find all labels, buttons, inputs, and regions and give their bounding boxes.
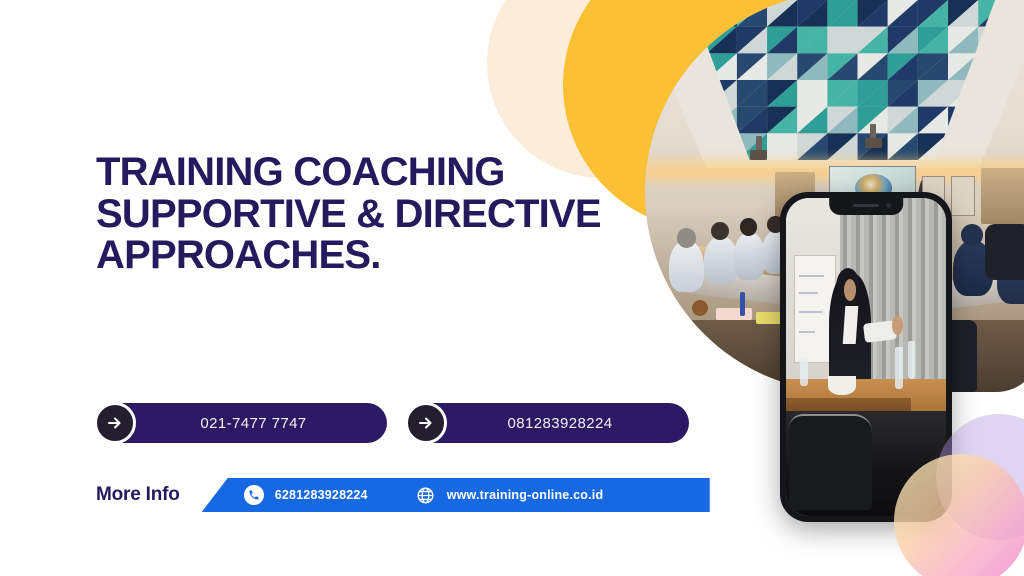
participant-2-head [711,222,729,240]
contact-website[interactable]: www.training-online.co.id [416,485,604,505]
participant-2 [704,236,738,284]
participant-3 [734,232,766,280]
phone-photo-bowl [828,376,857,395]
contact-phone[interactable]: 6281283928224 [244,485,368,505]
phone-photo-trainer-shirt [842,306,857,344]
more-info-row: More Info 6281283928224 [96,478,710,512]
phone-pill-office[interactable]: 021-7477 7747 [100,403,387,443]
desk-pen [740,292,746,316]
phone-pill-mobile-label: 081283928224 [457,415,663,432]
phone-pill-group: 021-7477 7747 081283928224 [100,403,689,443]
more-info-label: More Info [96,484,180,506]
contact-website-text: www.training-online.co.id [447,488,604,502]
globe-icon [416,485,436,505]
arrow-right-icon [94,402,136,444]
phone-photo-trainer-hand [892,316,903,335]
poster-canvas: TRAINING COACHING SUPPORTIVE & DIRECTIVE… [0,0,1024,576]
page-title: TRAINING COACHING SUPPORTIVE & DIRECTIVE… [96,152,616,277]
contact-bar: 6281283928224 www.training-online.co.id [202,478,710,512]
projector-left [750,150,767,160]
phone-pill-office-label: 021-7477 7747 [146,415,361,432]
headline-line-3: APPROACHES. [96,235,616,277]
headline-line-2: SUPPORTIVE & DIRECTIVE [96,194,616,236]
phone-earpiece [853,204,879,207]
wall-art-2 [951,176,975,216]
phone-photo-chair [789,414,872,509]
desk-item-1 [716,308,752,320]
contact-phone-text: 6281283928224 [275,488,368,502]
wall-wood-panel-right [981,168,1024,224]
chair-right [985,224,1024,280]
phone-photo-bottle-2 [908,341,915,379]
arrow-right-icon [405,402,447,444]
whiteboard-line-1 [799,275,824,277]
whiteboard-line-4 [799,331,815,333]
whiteboard-line-2 [799,292,818,294]
whiteboard-line-3 [799,311,822,313]
decor-circle-gradient [894,454,1024,576]
participant-1-head [677,228,697,248]
phone-photo-bottle-1 [895,347,903,388]
phone-photo-cup [800,357,808,386]
phone-pill-mobile[interactable]: 081283928224 [411,403,689,443]
participant-3-head [740,218,757,236]
phone-icon [244,485,264,505]
headline-line-1: TRAINING COACHING [96,152,616,194]
projector-center [865,138,882,148]
phone-front-camera-icon [886,203,891,208]
